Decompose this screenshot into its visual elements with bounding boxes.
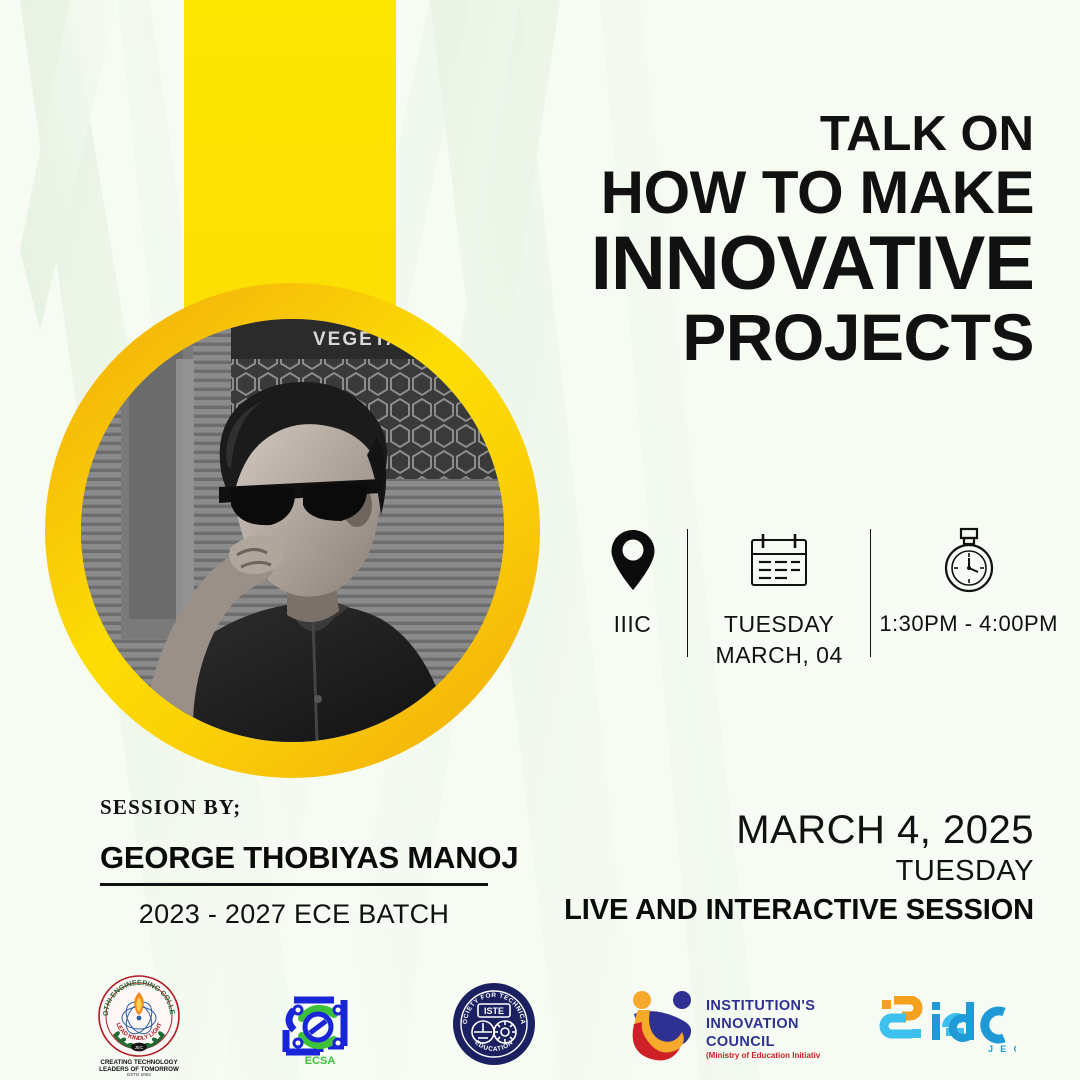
headline-line-3: INNOVATIVE <box>414 227 1034 301</box>
event-poster: VEGETA <box>0 0 1080 1080</box>
headline-line-4: PROJECTS <box>414 305 1034 370</box>
speaker-block: SESSION BY; GEORGE THOBIYAS MANOJ 2023 -… <box>100 795 520 930</box>
iedc-jecc-logo: J E C C <box>876 996 1016 1056</box>
event-day: TUESDAY <box>514 855 1034 888</box>
speaker-batch: 2023 - 2027 ECE BATCH <box>100 899 488 930</box>
jec-estd: ESTD 2002 <box>127 1072 151 1076</box>
iic-line-2: INNOVATION <box>706 1016 799 1032</box>
venue-detail: IIIC <box>578 525 687 640</box>
iic-line-3: COUNCIL <box>706 1034 775 1050</box>
date-line-1: TUESDAY <box>716 609 843 640</box>
time-detail: 1:30PM - 4:00PM <box>871 525 1066 639</box>
speaker-name: GEORGE THOBIYAS MANOJ <box>100 840 520 876</box>
calendar-icon <box>750 525 808 595</box>
ecsa-label: ECSA <box>305 1055 336 1066</box>
jec-tagline-1: CREATING TECHNOLOGY <box>100 1059 178 1066</box>
date-line-2: MARCH, 04 <box>716 640 843 671</box>
time-text: 1:30PM - 4:00PM <box>879 609 1058 639</box>
iste-logo: SOCIETY FOR TECHNICAL EDUCATION ISTE <box>452 982 536 1066</box>
iic-sub: (Ministry of Education Initiative) <box>706 1051 820 1060</box>
svg-text:JEC: JEC <box>135 1045 144 1050</box>
headline-line-2: HOW TO MAKE <box>414 164 1034 223</box>
date-text: TUESDAY MARCH, 04 <box>716 609 843 671</box>
stopwatch-icon <box>939 525 999 595</box>
event-details-row: IIIC TUESDAY MARCH, 04 <box>578 525 1066 675</box>
event-date: MARCH 4, 2025 <box>514 808 1034 853</box>
date-detail: TUESDAY MARCH, 04 <box>688 525 870 671</box>
ecsa-logo: ECSA <box>272 984 368 1066</box>
logo-row: JYOTHI ENGINEERING COLLEGE LEAD KINDLY L… <box>0 960 1080 1080</box>
location-pin-icon <box>610 525 656 595</box>
page-title: TALK ON HOW TO MAKE INNOVATIVE PROJECTS <box>414 110 1034 370</box>
iedc-sub: J E C C <box>988 1044 1016 1054</box>
speaker-underline <box>100 883 488 886</box>
headline-line-1: TALK ON <box>414 110 1034 158</box>
iste-center: ISTE <box>484 1006 504 1016</box>
iic-line-1: INSTITUTION'S <box>706 998 815 1014</box>
session-by-label: SESSION BY; <box>100 795 520 820</box>
institutions-innovation-council-logo: INSTITUTION'S INNOVATION COUNCIL (Minist… <box>620 988 820 1062</box>
event-mode: LIVE AND INTERACTIVE SESSION <box>514 894 1034 927</box>
venue-text: IIIC <box>614 609 652 640</box>
portrait-image: VEGETA <box>81 319 504 742</box>
event-date-block: MARCH 4, 2025 TUESDAY LIVE AND INTERACTI… <box>514 808 1034 927</box>
jyothi-engineering-college-logo: JYOTHI ENGINEERING COLLEGE LEAD KINDLY L… <box>80 972 198 1076</box>
